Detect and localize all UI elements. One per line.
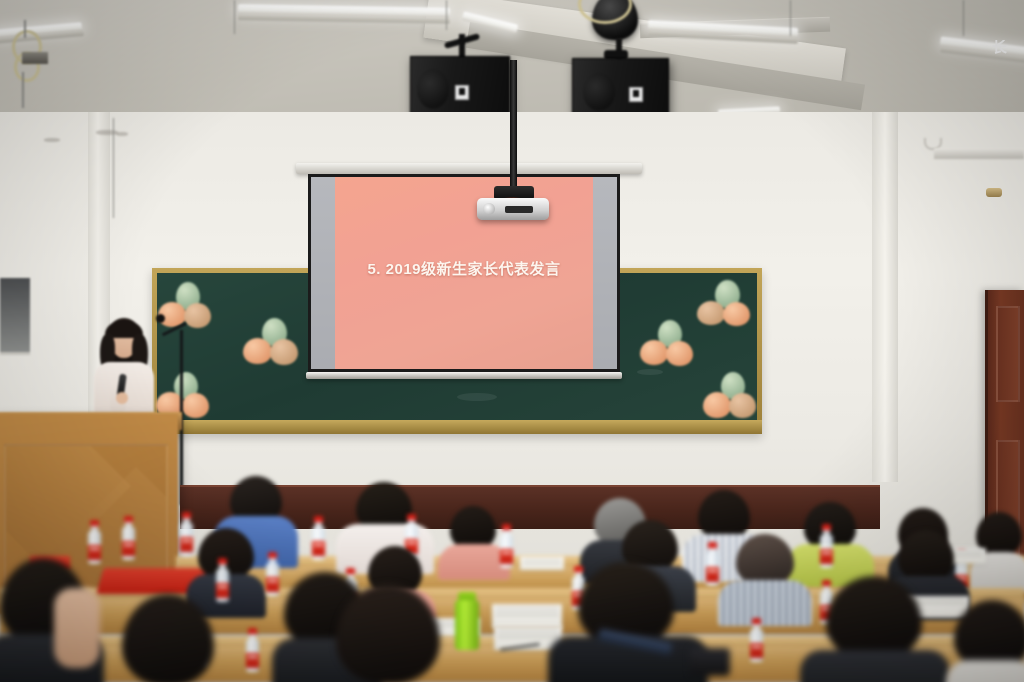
foreground-person-right: [800, 576, 950, 682]
green-thermos-bottle: [455, 592, 479, 650]
balloon-cluster-right-top: [697, 280, 759, 334]
ceiling-wire-1: [234, 0, 235, 34]
foreground-person-long-hair: [112, 594, 232, 682]
balloon-cluster-center: [243, 318, 305, 372]
foreground-person-woman-center: [322, 584, 452, 682]
projection-screen: 5. 2019级新生家长代表发言: [308, 174, 620, 372]
water-bottle: [246, 628, 259, 672]
microphone-icon: [156, 314, 165, 323]
balloon-cluster-right-bottom: [703, 372, 765, 426]
balloon-cluster-right-mid: [640, 320, 702, 374]
ceiling-wire-3: [790, 0, 791, 36]
water-bottle: [312, 516, 325, 560]
water-bottle: [500, 524, 513, 568]
wall-shelf-right: [934, 148, 1024, 159]
projector-pole: [510, 60, 517, 190]
foreground-person-black-shirt: [548, 562, 708, 682]
projection-screen-weight-bar: [306, 372, 622, 379]
wall-column-right: [872, 112, 898, 482]
lecture-hall-photo: 长: [0, 0, 1024, 682]
balloon-cluster-left-top: [158, 282, 220, 336]
slide-text: 5. 2019级新生家长代表发言: [311, 258, 617, 279]
projection-screen-housing: [296, 163, 642, 174]
phone-device[interactable]: [690, 648, 730, 676]
door-handle[interactable]: [986, 188, 1002, 197]
foreground-person-left-arm: [54, 588, 100, 668]
projector: [477, 198, 549, 220]
speaker-left: [410, 56, 510, 120]
water-bottle: [122, 516, 135, 560]
wall-scuff-1: [96, 130, 118, 135]
water-bottle: [750, 618, 763, 662]
wall-panel-left: [0, 278, 30, 355]
foreground-person-far-right: [946, 600, 1024, 682]
wall-scuff-3: [116, 132, 128, 136]
ceiling-wire-4: [963, 0, 964, 36]
audience-bald-man-row2: [718, 534, 812, 618]
wall-scuff-2: [44, 138, 60, 142]
audience-row1-edge-person: [970, 512, 1024, 582]
wall-hanging-wire: [113, 118, 114, 218]
water-bottle: [820, 524, 833, 568]
door-sign-text: 长: [992, 40, 1022, 55]
chalkboard-ledge: [152, 420, 762, 434]
wall-bracket-left: [22, 52, 48, 64]
ceiling-wire-2: [446, 0, 447, 30]
